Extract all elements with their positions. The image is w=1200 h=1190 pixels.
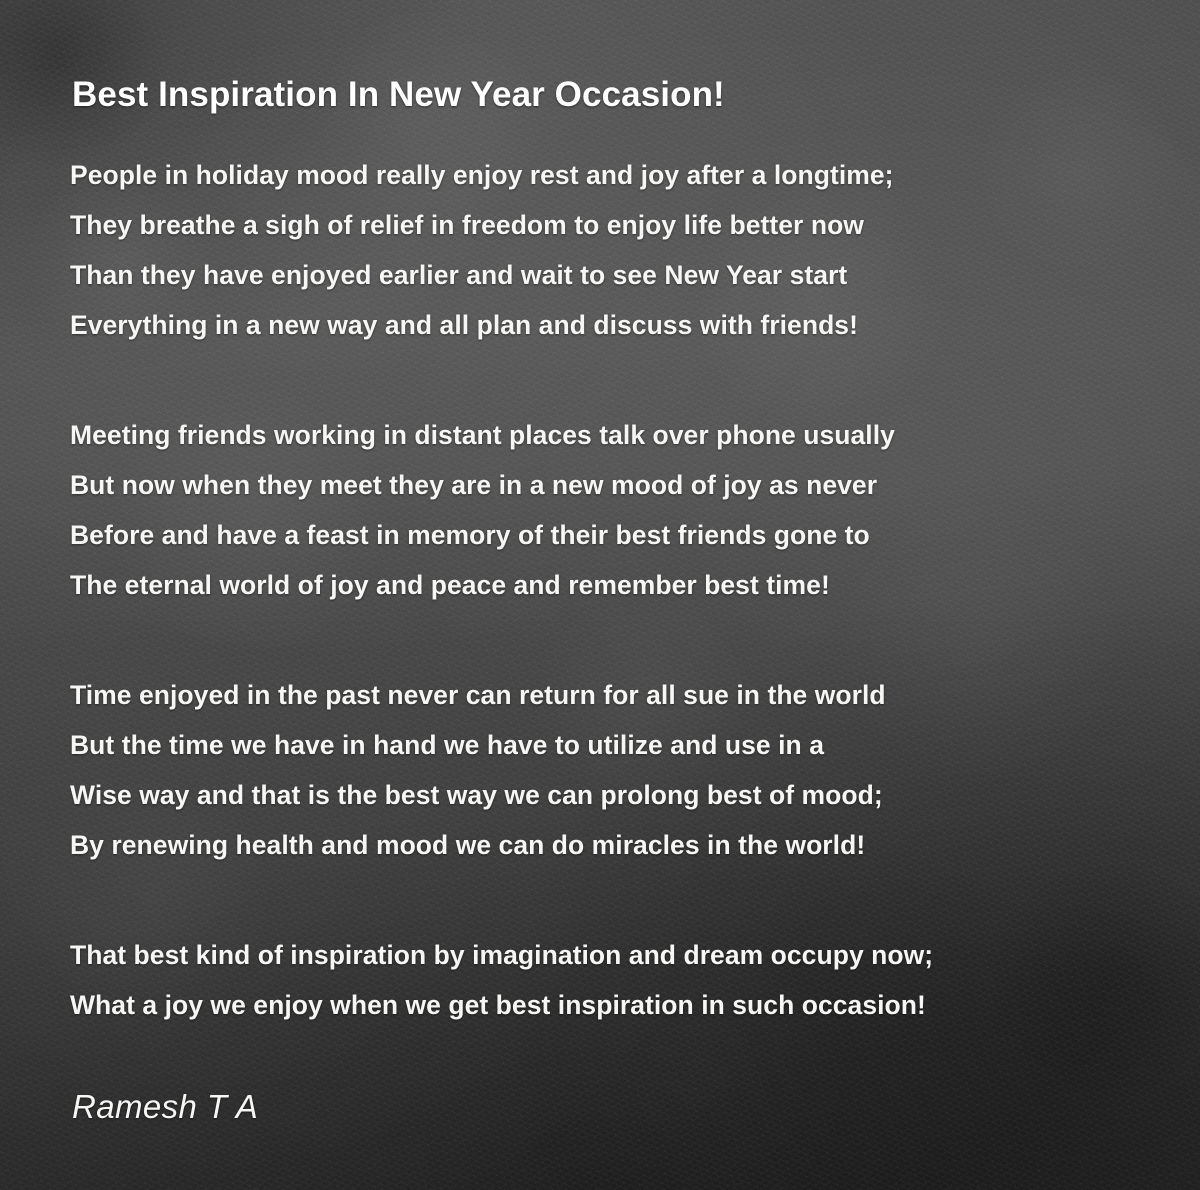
poem-stanza: That best kind of inspiration by imagina…	[70, 930, 1160, 1030]
poem-line: Before and have a feast in memory of the…	[70, 510, 1160, 560]
poem-title: Best Inspiration In New Year Occasion!	[72, 75, 725, 115]
poem-line: Wise way and that is the best way we can…	[70, 770, 1160, 820]
poem-line: What a joy we enjoy when we get best ins…	[70, 980, 1160, 1030]
poem-image-canvas: Best Inspiration In New Year Occasion! P…	[0, 0, 1200, 1190]
poem-body: People in holiday mood really enjoy rest…	[70, 150, 1160, 1090]
poem-content: Best Inspiration In New Year Occasion! P…	[0, 0, 1200, 1190]
poem-line: But now when they meet they are in a new…	[70, 460, 1160, 510]
poem-line: People in holiday mood really enjoy rest…	[70, 150, 1160, 200]
poem-line: That best kind of inspiration by imagina…	[70, 930, 1160, 980]
poem-line: But the time we have in hand we have to …	[70, 720, 1160, 770]
poem-line: The eternal world of joy and peace and r…	[70, 560, 1160, 610]
poem-stanza: Time enjoyed in the past never can retur…	[70, 670, 1160, 870]
poem-line: They breathe a sigh of relief in freedom…	[70, 200, 1160, 250]
poem-author-signature: Ramesh T A	[72, 1088, 258, 1126]
poem-line: By renewing health and mood we can do mi…	[70, 820, 1160, 870]
poem-line: Everything in a new way and all plan and…	[70, 300, 1160, 350]
poem-stanza: Meeting friends working in distant place…	[70, 410, 1160, 610]
poem-line: Time enjoyed in the past never can retur…	[70, 670, 1160, 720]
poem-line: Than they have enjoyed earlier and wait …	[70, 250, 1160, 300]
poem-line: Meeting friends working in distant place…	[70, 410, 1160, 460]
poem-stanza: People in holiday mood really enjoy rest…	[70, 150, 1160, 350]
